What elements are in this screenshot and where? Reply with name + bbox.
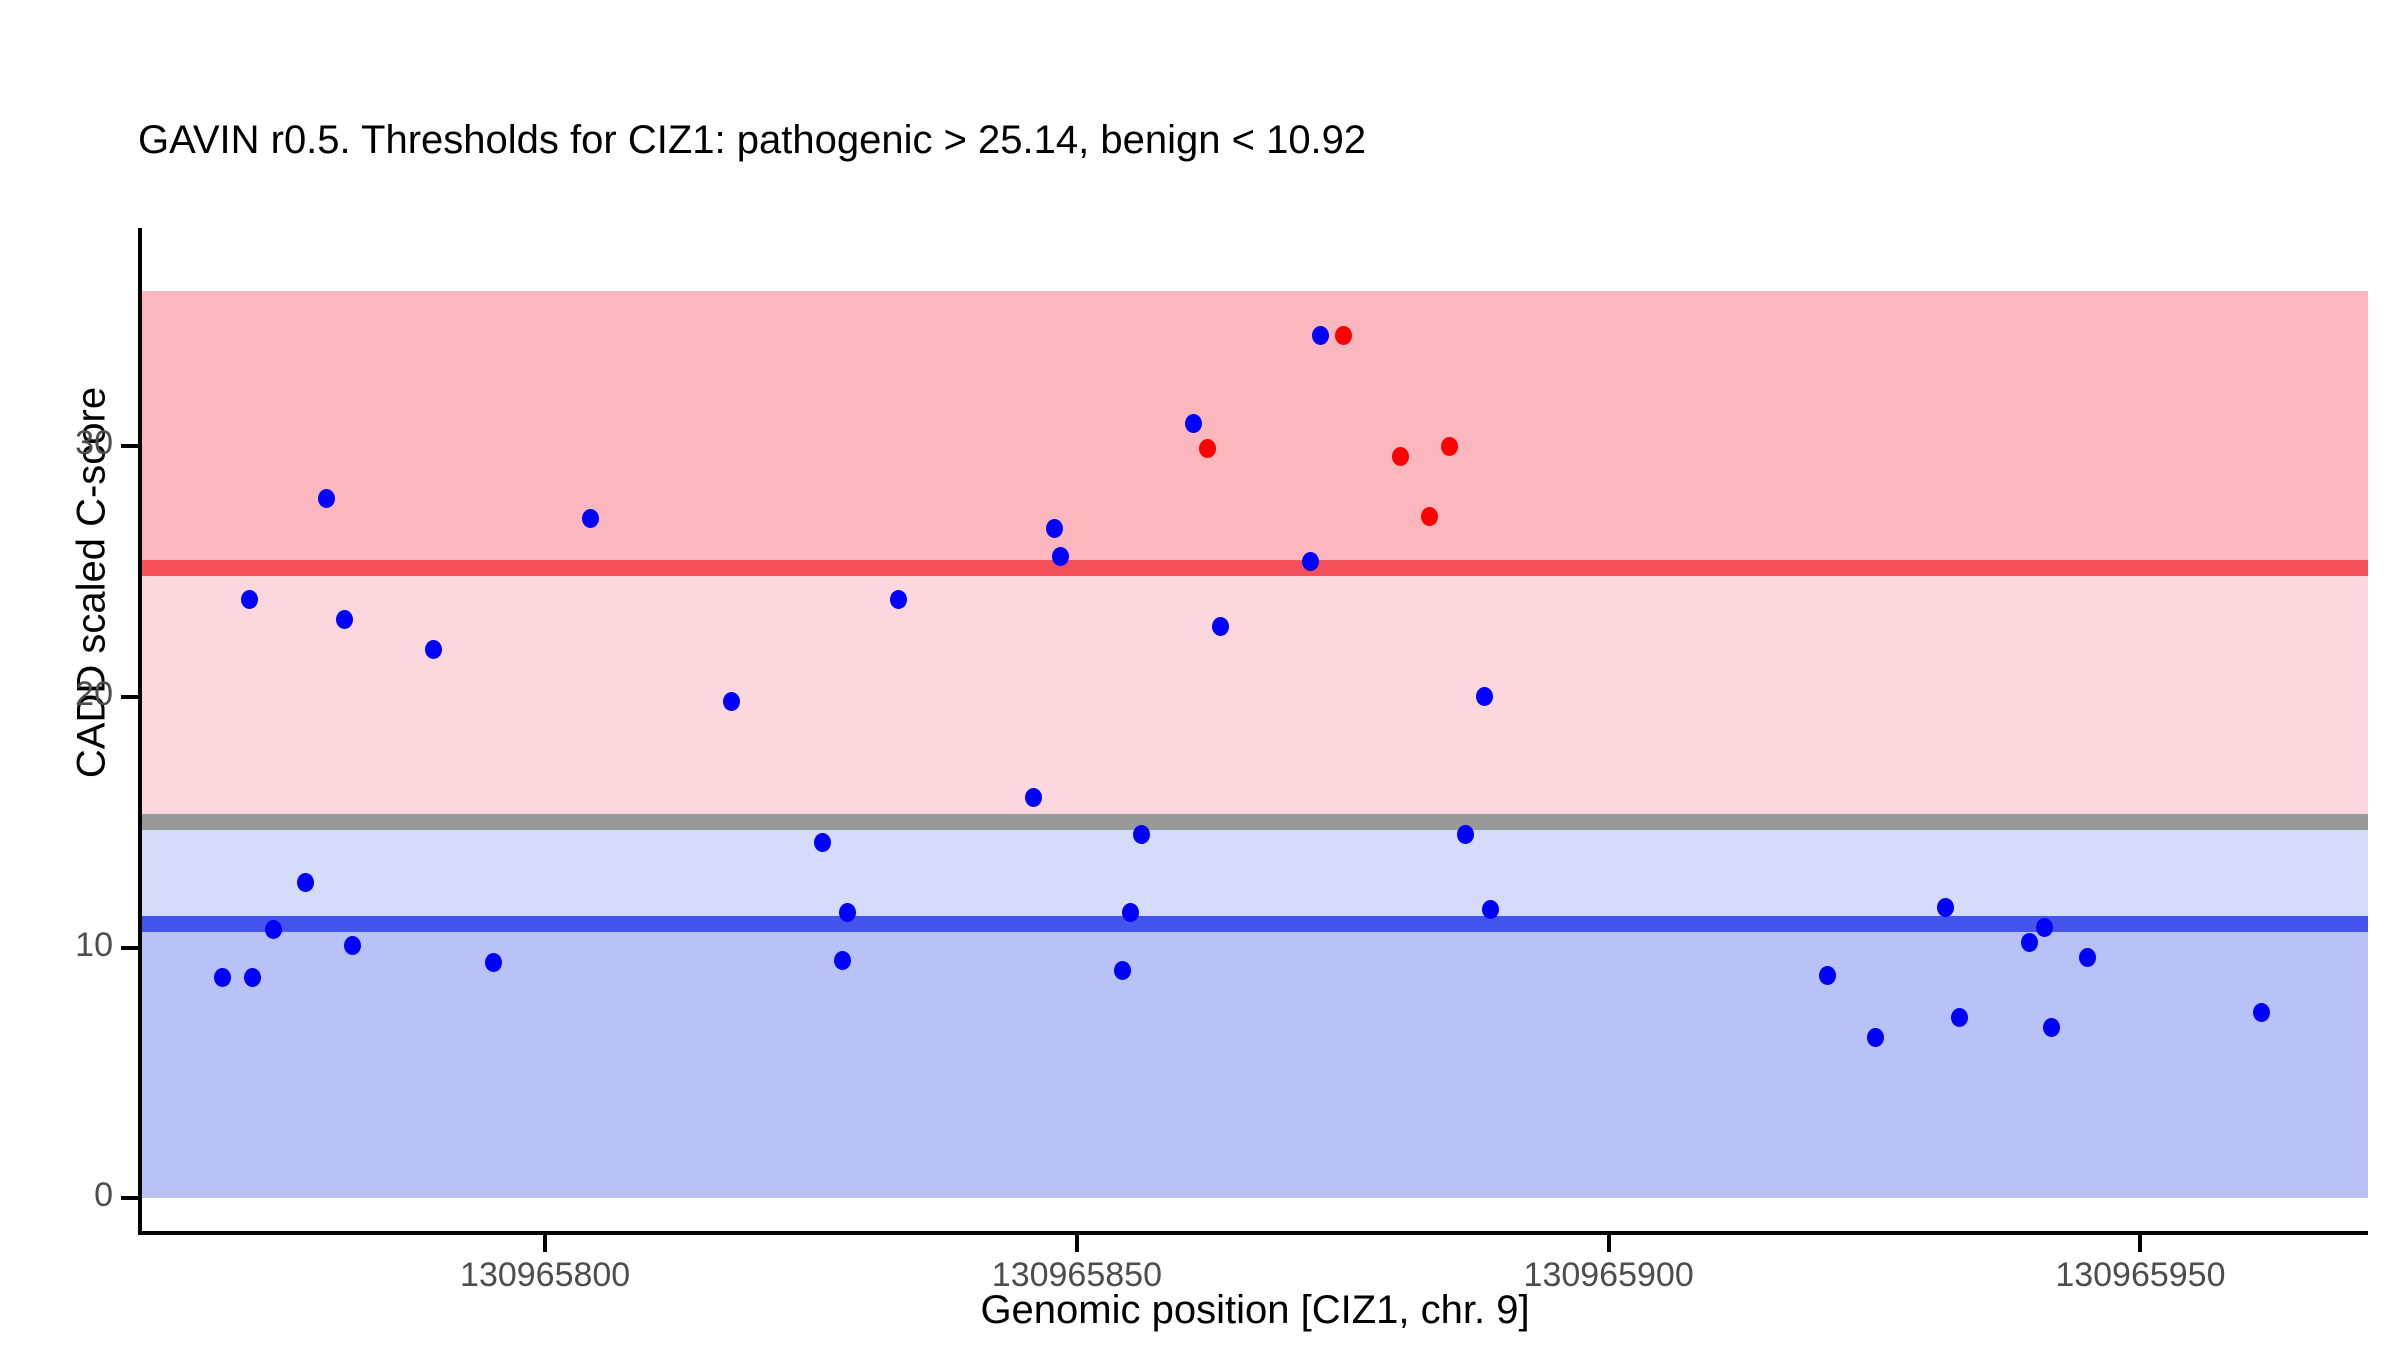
plot-figure: GAVIN r0.5. Thresholds for CIZ1: pathoge… — [0, 0, 2400, 1350]
y-axis-tick — [121, 695, 140, 699]
x-axis-tick-label: 130965850 — [877, 1256, 1277, 1295]
threshold-band — [141, 291, 2368, 568]
threshold-band — [141, 924, 2368, 1198]
y-axis-tick-label: 30 — [0, 424, 113, 463]
threshold-band — [141, 822, 2368, 924]
x-axis-tick — [1607, 1233, 1611, 1252]
data-point — [318, 489, 335, 508]
data-point — [1025, 788, 1042, 807]
x-axis-tick — [543, 1233, 547, 1252]
threshold-line — [141, 560, 2368, 576]
threshold-band — [141, 568, 2368, 822]
data-point — [1457, 825, 1474, 844]
data-point — [336, 610, 353, 629]
y-axis-tick — [121, 1196, 140, 1200]
data-point — [890, 590, 907, 609]
data-point — [1114, 961, 1131, 980]
data-point — [1122, 903, 1139, 922]
y-axis-line — [138, 228, 142, 1232]
data-point — [839, 903, 856, 922]
threshold-line — [141, 814, 2368, 830]
data-point — [1819, 966, 1836, 985]
data-point — [723, 692, 740, 711]
x-axis-tick — [1075, 1233, 1079, 1252]
threshold-line — [141, 916, 2368, 932]
y-axis-title: CADD scaled C-score — [70, 233, 115, 933]
data-point — [1392, 447, 1409, 466]
x-axis-tick — [2138, 1233, 2142, 1252]
data-point — [1441, 437, 1458, 456]
data-point — [2079, 948, 2096, 967]
data-point — [814, 833, 831, 852]
data-point — [1212, 617, 1229, 636]
plot-title-line-1: GAVIN r0.5. Thresholds for CIZ1: pathoge… — [138, 114, 2368, 167]
y-axis-tick-label: 10 — [0, 926, 113, 965]
y-axis-tick — [121, 946, 140, 950]
data-point — [834, 951, 851, 970]
x-axis-tick-label: 130965900 — [1409, 1256, 1809, 1295]
data-point — [425, 640, 442, 659]
data-point — [241, 590, 258, 609]
x-axis-tick-label: 130965950 — [1940, 1256, 2340, 1295]
data-point — [485, 953, 502, 972]
y-axis-tick — [121, 444, 140, 448]
plot-panel — [141, 272, 2368, 1232]
data-point — [2043, 1018, 2060, 1037]
y-axis-tick-label: 0 — [0, 1176, 113, 1215]
data-point — [1476, 687, 1493, 706]
y-axis-tick-label: 20 — [0, 675, 113, 714]
x-axis-line — [138, 1231, 2368, 1235]
x-axis-tick-label: 130965800 — [345, 1256, 745, 1295]
data-point — [344, 936, 361, 955]
